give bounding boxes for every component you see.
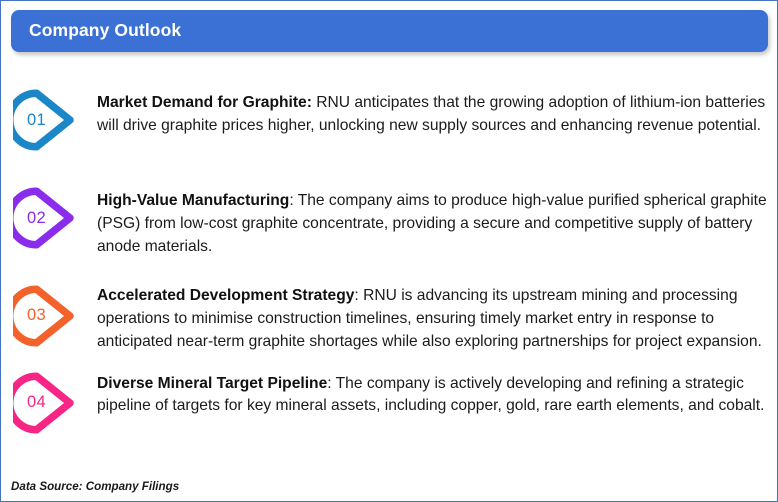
item-text: High-Value Manufacturing: The company ai… (75, 187, 769, 259)
item-heading: High-Value Manufacturing (97, 192, 289, 209)
item-number: 02 (13, 187, 60, 249)
item-badge-02: 02 (13, 187, 75, 249)
page-title: Company Outlook (11, 22, 181, 40)
item-text: Market Demand for Graphite: RNU anticipa… (75, 89, 769, 138)
data-source-note: Data Source: Company Filings (11, 480, 179, 493)
list-item: 03 Accelerated Development Strategy: RNU… (1, 285, 778, 354)
item-heading: Market Demand for Graphite: (97, 94, 312, 111)
header-bar: Company Outlook (11, 10, 768, 52)
item-number: 03 (13, 285, 60, 347)
list-item: 01 Market Demand for Graphite: RNU antic… (1, 89, 778, 151)
item-number: 01 (13, 89, 60, 151)
item-number: 04 (13, 372, 60, 434)
outlook-item-list: 01 Market Demand for Graphite: RNU antic… (1, 63, 778, 434)
list-item: 04 Diverse Mineral Target Pipeline: The … (1, 372, 778, 434)
item-text: Diverse Mineral Target Pipeline: The com… (75, 372, 769, 419)
item-badge-01: 01 (13, 89, 75, 151)
item-text: Accelerated Development Strategy: RNU is… (75, 285, 769, 354)
item-heading: Accelerated Development Strategy (97, 287, 354, 304)
item-badge-03: 03 (13, 285, 75, 347)
company-outlook-slide: Company Outlook 01 Market Demand for Gra… (0, 0, 778, 502)
item-heading: Diverse Mineral Target Pipeline (97, 375, 327, 392)
item-badge-04: 04 (13, 372, 75, 434)
list-item: 02 High-Value Manufacturing: The company… (1, 187, 778, 259)
